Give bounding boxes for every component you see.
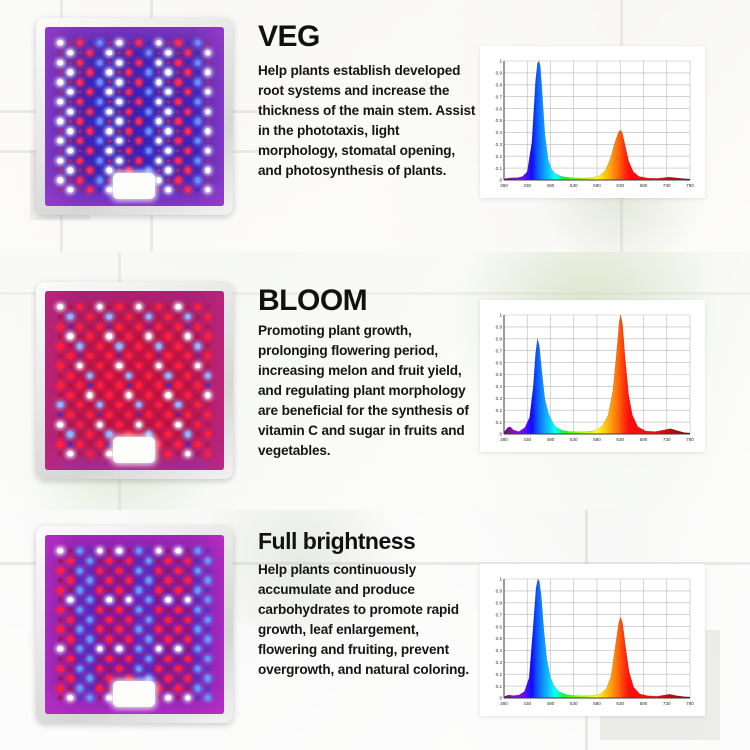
svg-text:1: 1 <box>499 313 502 318</box>
led-panel-interior <box>45 27 224 206</box>
svg-text:780: 780 <box>686 701 694 706</box>
led-panel-interior <box>45 291 224 470</box>
svg-text:0.6: 0.6 <box>496 360 503 365</box>
svg-text:0.9: 0.9 <box>496 325 503 330</box>
svg-text:430: 430 <box>523 437 531 442</box>
led-board-grid <box>56 302 213 459</box>
spectrum-svg-bloom: 38043048053058063068073078000.10.20.30.4… <box>488 309 695 447</box>
svg-text:430: 430 <box>523 183 531 188</box>
svg-text:0.9: 0.9 <box>496 71 503 76</box>
chart-cell-bloom: 38043048053058063068073078000.10.20.30.4… <box>480 282 750 452</box>
text-cell-full: Full brightness Help plants continuously… <box>258 526 480 680</box>
svg-text:0.4: 0.4 <box>496 384 503 389</box>
svg-text:680: 680 <box>640 183 648 188</box>
svg-text:0.9: 0.9 <box>496 589 503 594</box>
led-grow-light-panel-full[interactable] <box>36 526 233 723</box>
led-board-grid <box>56 546 213 703</box>
panel-cell-full <box>0 526 258 723</box>
svg-text:0: 0 <box>499 432 502 437</box>
panel-cell-veg <box>0 18 258 215</box>
svg-text:1: 1 <box>499 59 502 64</box>
svg-text:0: 0 <box>499 178 502 183</box>
section-body-full-brightness: Help plants continuously accumulate and … <box>258 560 480 680</box>
led-grow-light-panel-veg[interactable] <box>36 18 233 215</box>
spectrum-chart-bloom[interactable]: 38043048053058063068073078000.10.20.30.4… <box>480 300 705 452</box>
section-full-brightness: Full brightness Help plants continuously… <box>0 526 750 736</box>
svg-text:580: 580 <box>593 701 601 706</box>
svg-text:730: 730 <box>663 437 671 442</box>
chart-cell-full: 38043048053058063068073078000.10.20.30.4… <box>480 526 750 716</box>
svg-text:0.8: 0.8 <box>496 83 503 88</box>
svg-text:0.5: 0.5 <box>496 636 503 641</box>
svg-text:480: 480 <box>547 183 555 188</box>
chart-cell-veg: 38043048053058063068073078000.10.20.30.4… <box>480 18 750 198</box>
svg-text:530: 530 <box>570 183 578 188</box>
spectrum-svg-veg: 38043048053058063068073078000.10.20.30.4… <box>488 55 695 193</box>
panel-cell-bloom <box>0 282 258 479</box>
svg-text:0.2: 0.2 <box>496 672 503 677</box>
svg-text:530: 530 <box>570 701 578 706</box>
spectrum-chart-full[interactable]: 38043048053058063068073078000.10.20.30.4… <box>480 564 705 716</box>
svg-text:480: 480 <box>547 437 555 442</box>
svg-text:0.1: 0.1 <box>496 420 503 425</box>
section-title-veg: VEG <box>258 22 480 52</box>
svg-text:380: 380 <box>500 437 508 442</box>
svg-text:1: 1 <box>499 577 502 582</box>
svg-text:0.6: 0.6 <box>496 106 503 111</box>
svg-text:730: 730 <box>663 183 671 188</box>
svg-text:380: 380 <box>500 701 508 706</box>
section-title-full-brightness: Full brightness <box>258 530 480 553</box>
svg-text:0.1: 0.1 <box>496 166 503 171</box>
svg-text:0.5: 0.5 <box>496 118 503 123</box>
svg-text:0.6: 0.6 <box>496 624 503 629</box>
svg-text:580: 580 <box>593 183 601 188</box>
svg-text:0.7: 0.7 <box>496 612 503 617</box>
svg-text:630: 630 <box>616 437 624 442</box>
svg-text:680: 680 <box>640 701 648 706</box>
svg-text:0.3: 0.3 <box>496 660 503 665</box>
svg-text:0.1: 0.1 <box>496 684 503 689</box>
section-bloom: BLOOM Promoting plant growth, prolonging… <box>0 282 750 498</box>
svg-text:0.7: 0.7 <box>496 94 503 99</box>
led-panel-label-patch <box>113 437 155 463</box>
section-body-bloom: Promoting plant growth, prolonging flowe… <box>258 321 480 461</box>
section-body-veg: Help plants establish developed root sys… <box>258 61 480 181</box>
svg-text:780: 780 <box>686 183 694 188</box>
svg-text:380: 380 <box>500 183 508 188</box>
section-veg: VEG Help plants establish developed root… <box>0 18 750 234</box>
svg-text:0: 0 <box>499 696 502 701</box>
svg-text:0.8: 0.8 <box>496 337 503 342</box>
svg-text:630: 630 <box>616 183 624 188</box>
text-cell-bloom: BLOOM Promoting plant growth, prolonging… <box>258 282 480 461</box>
spectrum-chart-veg[interactable]: 38043048053058063068073078000.10.20.30.4… <box>480 46 705 198</box>
text-cell-veg: VEG Help plants establish developed root… <box>258 18 480 181</box>
svg-text:0.2: 0.2 <box>496 154 503 159</box>
svg-text:0.4: 0.4 <box>496 130 503 135</box>
svg-text:780: 780 <box>686 437 694 442</box>
svg-text:630: 630 <box>616 701 624 706</box>
svg-text:0.5: 0.5 <box>496 372 503 377</box>
led-panel-interior <box>45 535 224 714</box>
svg-text:430: 430 <box>523 701 531 706</box>
svg-text:0.4: 0.4 <box>496 648 503 653</box>
svg-text:0.2: 0.2 <box>496 408 503 413</box>
svg-text:680: 680 <box>640 437 648 442</box>
svg-text:480: 480 <box>547 701 555 706</box>
led-board-grid <box>56 38 213 195</box>
svg-text:530: 530 <box>570 437 578 442</box>
svg-text:0.7: 0.7 <box>496 348 503 353</box>
svg-text:0.8: 0.8 <box>496 601 503 606</box>
svg-text:0.3: 0.3 <box>496 142 503 147</box>
svg-text:730: 730 <box>663 701 671 706</box>
led-panel-label-patch <box>113 681 155 707</box>
led-panel-label-patch <box>113 173 155 199</box>
svg-text:0.3: 0.3 <box>496 396 503 401</box>
led-grow-light-panel-bloom[interactable] <box>36 282 233 479</box>
section-title-bloom: BLOOM <box>258 286 480 316</box>
svg-text:580: 580 <box>593 437 601 442</box>
spectrum-svg-full: 38043048053058063068073078000.10.20.30.4… <box>488 573 695 711</box>
